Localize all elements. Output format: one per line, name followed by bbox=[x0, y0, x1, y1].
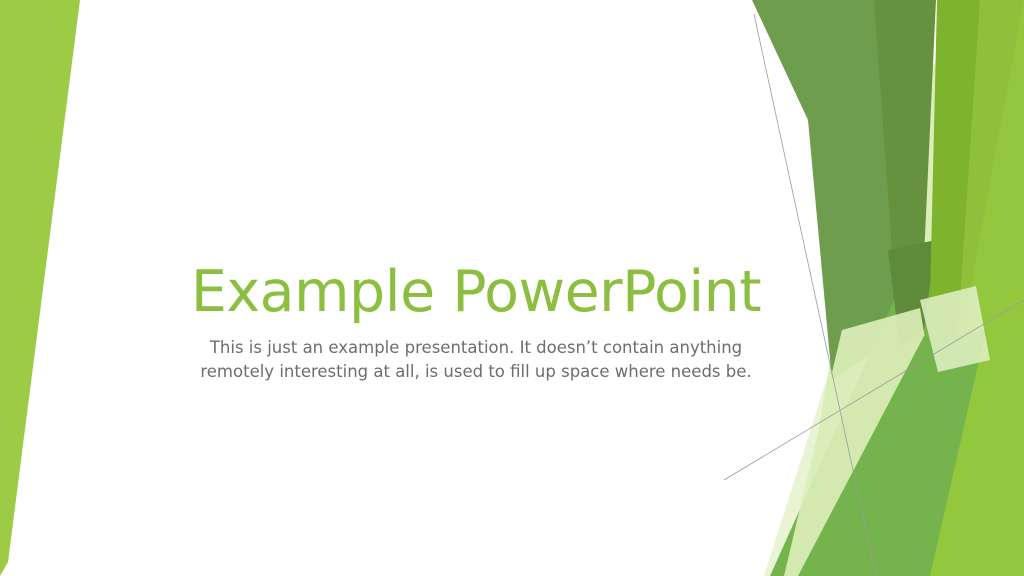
olive-wedge-dark-shape bbox=[874, 0, 936, 300]
bright-green-wedge-shape bbox=[914, 0, 1024, 576]
title-text-block: Example PowerPoint This is just an examp… bbox=[176, 262, 776, 385]
mid-green-wedge-shape bbox=[770, 200, 1024, 576]
page-title: Example PowerPoint bbox=[176, 262, 776, 324]
olive-tip-shape bbox=[888, 240, 936, 348]
light-green-wedge-shape bbox=[938, 0, 1024, 576]
pale-wash-shape bbox=[764, 0, 1024, 576]
olive-wedge-shape bbox=[752, 0, 914, 380]
yellow-green-edge-shape bbox=[946, 0, 1024, 576]
slide-subtitle: This is just an example presentation. It… bbox=[176, 336, 776, 386]
mid-green-lower-shape bbox=[798, 330, 1024, 576]
slide-canvas: Example PowerPoint This is just an examp… bbox=[0, 0, 1024, 576]
left-green-wedge bbox=[0, 0, 80, 576]
pale-wedge-shape bbox=[794, 0, 1024, 576]
left-decoration-group bbox=[0, 0, 120, 576]
yellow-green-lower-shape bbox=[930, 290, 1024, 576]
pale-sliver-shape bbox=[920, 286, 990, 372]
pale-overlay-lower-shape bbox=[784, 308, 964, 576]
